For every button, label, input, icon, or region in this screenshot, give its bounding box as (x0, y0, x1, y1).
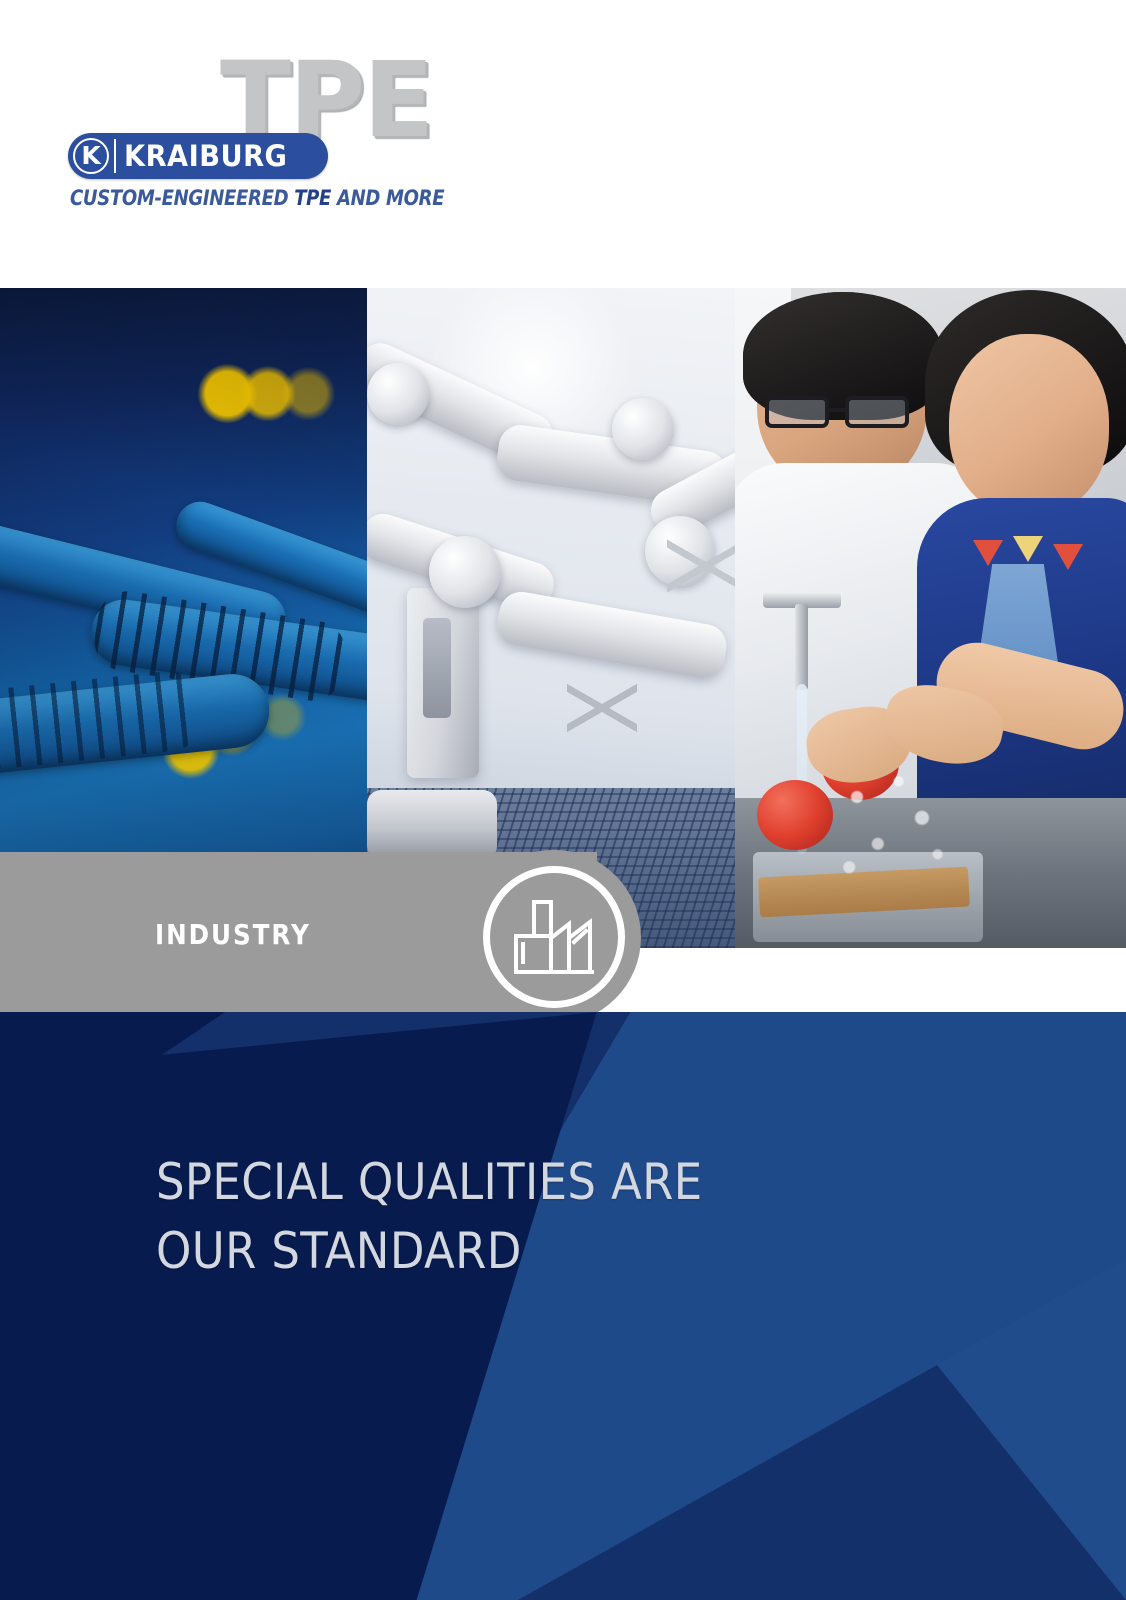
water-splash (831, 758, 961, 888)
child-face (949, 334, 1109, 516)
category-label: INDUSTRY (155, 918, 311, 951)
shirt-bunting-flag (1013, 536, 1043, 562)
tagline-prefix: CUSTOM-ENGINEERED (70, 186, 294, 210)
network-cables-photo (0, 288, 367, 948)
robot-base (367, 790, 497, 860)
headline-line-1: SPECIAL QUALITIES ARE (156, 1148, 840, 1217)
category-icon-ring (483, 866, 625, 1008)
lens-right (845, 396, 909, 428)
logo-divider (114, 139, 116, 173)
faucet-neck (795, 604, 808, 690)
category-icon-badge (467, 850, 641, 1024)
kraiburg-tpe-logo[interactable]: TPE K KRAIBURG CUSTOM-ENGINEERED TPE AND… (68, 48, 398, 218)
hero-image-strip (0, 288, 1126, 948)
robot-gripper (567, 678, 637, 738)
tomato (757, 780, 833, 850)
headline-line-2: OUR STANDARD (156, 1217, 840, 1286)
hero-blue-panel (0, 1012, 1126, 1600)
tagline-highlight: TPE (294, 186, 331, 210)
kraiburg-monogram-letter: K (81, 143, 100, 168)
kraiburg-wordmark: KRAIBURG (124, 139, 287, 173)
robotic-arm-photo (367, 288, 735, 948)
lens-left (765, 396, 829, 428)
tagline-suffix: AND MORE (331, 186, 444, 210)
robot-joint (429, 536, 501, 608)
robot-joint (367, 363, 429, 425)
brand-tagline: CUSTOM-ENGINEERED TPE AND MORE (70, 186, 444, 210)
eyeglasses-icon (765, 396, 925, 430)
page-headline: SPECIAL QUALITIES ARE OUR STANDARD (156, 1148, 916, 1286)
kraiburg-k-monogram-icon: K (73, 138, 109, 174)
robot-joint (612, 398, 674, 460)
page-header: TPE K KRAIBURG CUSTOM-ENGINEERED TPE AND… (0, 0, 1126, 288)
shirt-bunting-flag (973, 540, 1003, 566)
factory-icon (512, 898, 596, 976)
photo-vignette (0, 288, 367, 948)
robot-column (407, 588, 479, 778)
shirt-bunting-flag (1053, 544, 1083, 570)
kraiburg-logo-pill: K KRAIBURG (68, 133, 328, 179)
robot-gripper (667, 538, 735, 594)
family-kitchen-photo (735, 288, 1126, 948)
